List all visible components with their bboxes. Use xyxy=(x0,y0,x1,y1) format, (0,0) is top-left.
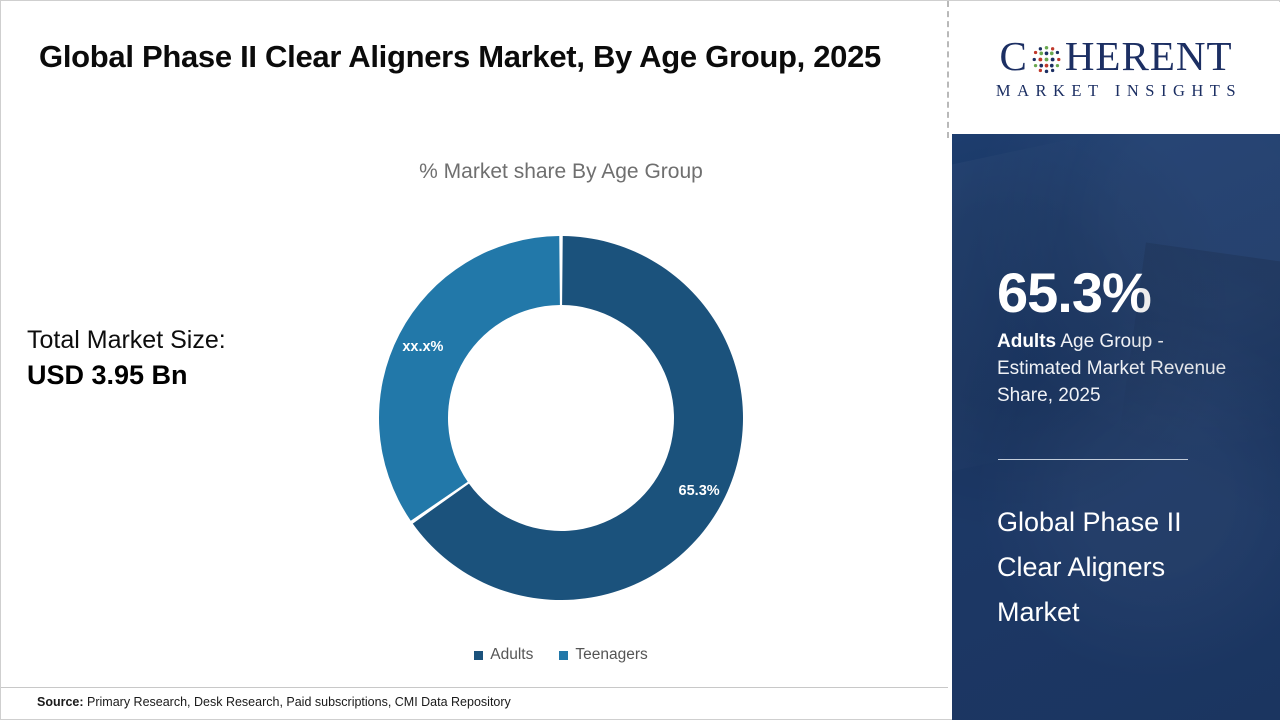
legend-swatch-teenagers xyxy=(559,651,568,660)
legend-label-adults: Adults xyxy=(490,646,533,664)
source-prefix: Source: xyxy=(37,695,84,709)
side-panel-content: 65.3% Adults Age Group - Estimated Marke… xyxy=(997,134,1259,720)
legend-swatch-adults xyxy=(474,651,483,660)
stat-value: 65.3% xyxy=(997,265,1151,321)
infographic-page: Global Phase II Clear Aligners Market, B… xyxy=(0,0,1280,720)
stat-description-bold: Adults xyxy=(997,331,1056,352)
donut-slice-group xyxy=(379,236,743,600)
total-market-size-label: Total Market Size: xyxy=(27,323,327,357)
highlight-side-panel: 65.3% Adults Age Group - Estimated Marke… xyxy=(952,134,1280,720)
page-title: Global Phase II Clear Aligners Market, B… xyxy=(39,31,889,82)
donut-chart-svg: 65.3% xx.x% xyxy=(361,218,761,618)
total-market-size-block: Total Market Size: USD 3.95 Bn xyxy=(27,323,327,393)
brand-name-part1: C xyxy=(999,36,1027,77)
legend-item-adults[interactable]: Adults xyxy=(474,646,533,664)
source-line: Source: Primary Research, Desk Research,… xyxy=(37,695,511,709)
slice-label-teenagers: xx.x% xyxy=(402,339,443,355)
donut-slice-teenagers[interactable] xyxy=(379,236,560,521)
brand-tagline: MARKET INSIGHTS xyxy=(990,81,1242,101)
brand-wordmark: C xyxy=(999,36,1232,77)
stat-description: Adults Age Group - Estimated Market Reve… xyxy=(997,328,1237,409)
source-text: Primary Research, Desk Research, Paid su… xyxy=(84,695,511,709)
side-panel-divider xyxy=(998,459,1188,460)
slice-label-adults: 65.3% xyxy=(679,483,720,499)
donut-chart: 65.3% xx.x% xyxy=(361,218,761,618)
side-panel-footer-title: Global Phase II Clear Aligners Market xyxy=(997,500,1247,635)
chart-subtitle: % Market share By Age Group xyxy=(161,160,961,184)
legend-item-teenagers[interactable]: Teenagers xyxy=(559,646,647,664)
brand-name-part2: HERENT xyxy=(1065,36,1233,77)
total-market-size-value: USD 3.95 Bn xyxy=(27,357,327,393)
brand-logo: C xyxy=(952,2,1280,134)
vertical-dashed-divider xyxy=(947,1,949,138)
legend-label-teenagers: Teenagers xyxy=(575,646,647,664)
chart-legend: Adults Teenagers xyxy=(161,646,961,664)
dotted-globe-icon xyxy=(1029,42,1064,77)
source-divider xyxy=(1,687,948,688)
